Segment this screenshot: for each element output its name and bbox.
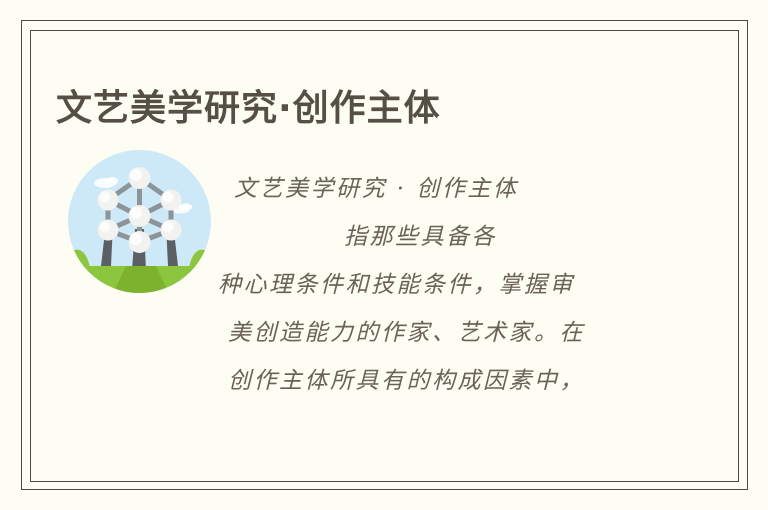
page-title: 文艺美学研究·创作主体 (56, 86, 441, 132)
article-line: 创作主体所具有的构成因素中， (216, 357, 648, 405)
article-line: 种心理条件和技能条件，掌握审 (216, 261, 648, 309)
page-root: 文艺美学研究·创作主体 (0, 0, 768, 510)
article-body: 文艺美学研究 · 创作主体 指那些具备各 种心理条件和技能条件，掌握审 美创造能… (216, 165, 648, 405)
article-line: 美创造能力的作家、艺术家。在 (216, 309, 648, 357)
atomium-landmark-icon (68, 150, 211, 293)
article-line: 指那些具备各 (216, 213, 648, 261)
article-line: 文艺美学研究 · 创作主体 (216, 165, 648, 213)
